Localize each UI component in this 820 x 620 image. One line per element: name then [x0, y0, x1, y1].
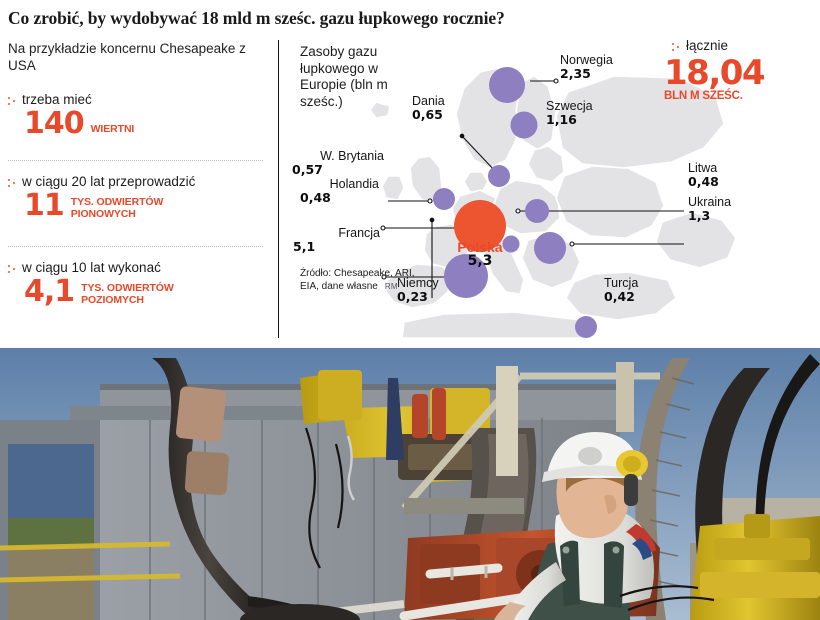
country-value: 5,1: [284, 240, 380, 254]
label-turcja: Turcja 0,42: [604, 276, 638, 304]
bubble-ukraina: [534, 232, 566, 264]
country-name: Dania: [412, 94, 445, 108]
infographic-page: Co zrobić, by wydobywać 18 mld m sześc. …: [0, 0, 820, 620]
total-label: łącznie: [686, 38, 728, 53]
bubble-norwegia: [489, 67, 525, 103]
triple-dot-bullet-icon: [672, 41, 681, 54]
country-value: 0,23: [397, 290, 439, 304]
country-value: 0,57: [284, 163, 384, 177]
page-title: Co zrobić, by wydobywać 18 mld m sześc. …: [8, 8, 808, 29]
total-callout: łącznie 18,04 BLN M SZEŚC.: [664, 38, 814, 102]
total-unit: BLN M SZEŚC.: [664, 90, 814, 102]
intro-text: Na przykładzie koncernu Chesapeake z USA: [8, 40, 258, 74]
left-stats-panel: Na przykładzie koncernu Chesapeake z USA…: [0, 36, 278, 336]
label-litwa: Litwa 0,48: [688, 161, 719, 189]
label-dania: Dania 0,65: [412, 94, 445, 122]
divider-dotted: [8, 246, 263, 248]
triple-dot-bullet-icon: [8, 263, 17, 276]
label-niemcy: Niemcy 0,23: [397, 276, 439, 304]
country-name: Norwegia: [560, 53, 613, 67]
label-ukraina: Ukraina 1,3: [688, 195, 731, 223]
bubble-turcja: [575, 316, 597, 338]
stat-value: 140: [24, 109, 84, 139]
country-value: 0,48: [688, 175, 719, 189]
country-name: Turcja: [604, 276, 638, 290]
bubble-wbrytania: [433, 188, 455, 210]
country-value: 1,3: [688, 209, 731, 223]
country-value: 0,48: [284, 191, 379, 205]
europe-bubble-map: Zasoby gazu łupkowego w Europie (bln m s…: [284, 36, 820, 338]
country-value: 0,65: [412, 108, 445, 122]
country-value: 1,16: [546, 113, 593, 127]
label-szwecja: Szwecja 1,16: [546, 99, 593, 127]
label-w-brytania: W. Brytania 0,57: [284, 149, 384, 177]
drilling-rig-photo: [0, 348, 820, 620]
country-name: Niemcy: [397, 276, 439, 290]
stat-block-horizontal-wells: w ciągu 10 lat wykonać 4,1 TYS. ODWIERTÓ…: [8, 260, 270, 307]
country-name: W. Brytania: [284, 149, 384, 163]
panel-divider: [278, 40, 279, 338]
country-name: Szwecja: [546, 99, 593, 113]
stat-block-vertical-wells: w ciągu 20 lat przeprowadzić 11 TYS. ODW…: [8, 174, 270, 221]
stat-value: 4,1: [24, 277, 74, 307]
country-name: Litwa: [688, 161, 719, 175]
bubble-litwa: [525, 199, 549, 223]
photo-content: [0, 348, 820, 620]
total-value: 18,04: [664, 55, 814, 91]
country-name: Ukraina: [688, 195, 731, 209]
stat-block-drills: trzeba mieć 140 WIERTNI: [8, 92, 270, 139]
stat-unit: TYS. ODWIERTÓW PIONOWYCH: [71, 196, 221, 221]
country-name: Polska: [447, 240, 513, 254]
label-francja: Francja 5,1: [284, 226, 380, 254]
triple-dot-bullet-icon: [8, 177, 17, 190]
country-name: Francja: [284, 226, 380, 240]
country-value: 2,35: [560, 67, 613, 81]
bubble-szwecja: [511, 112, 538, 139]
triple-dot-bullet-icon: [8, 95, 17, 108]
stat-value: 11: [24, 191, 64, 221]
label-polska: Polska 5,3: [447, 240, 513, 268]
country-value: 0,42: [604, 290, 638, 304]
divider-dotted: [8, 160, 263, 162]
stat-unit: TYS. ODWIERTÓW POZIOMYCH: [81, 282, 231, 307]
stat-unit: WIERTNI: [91, 123, 135, 139]
label-norwegia: Norwegia 2,35: [560, 53, 613, 81]
bubble-dania: [488, 165, 510, 187]
label-holandia: Holandia 0,48: [284, 177, 379, 205]
country-value: 5,3: [447, 254, 513, 268]
country-name: Holandia: [284, 177, 379, 191]
